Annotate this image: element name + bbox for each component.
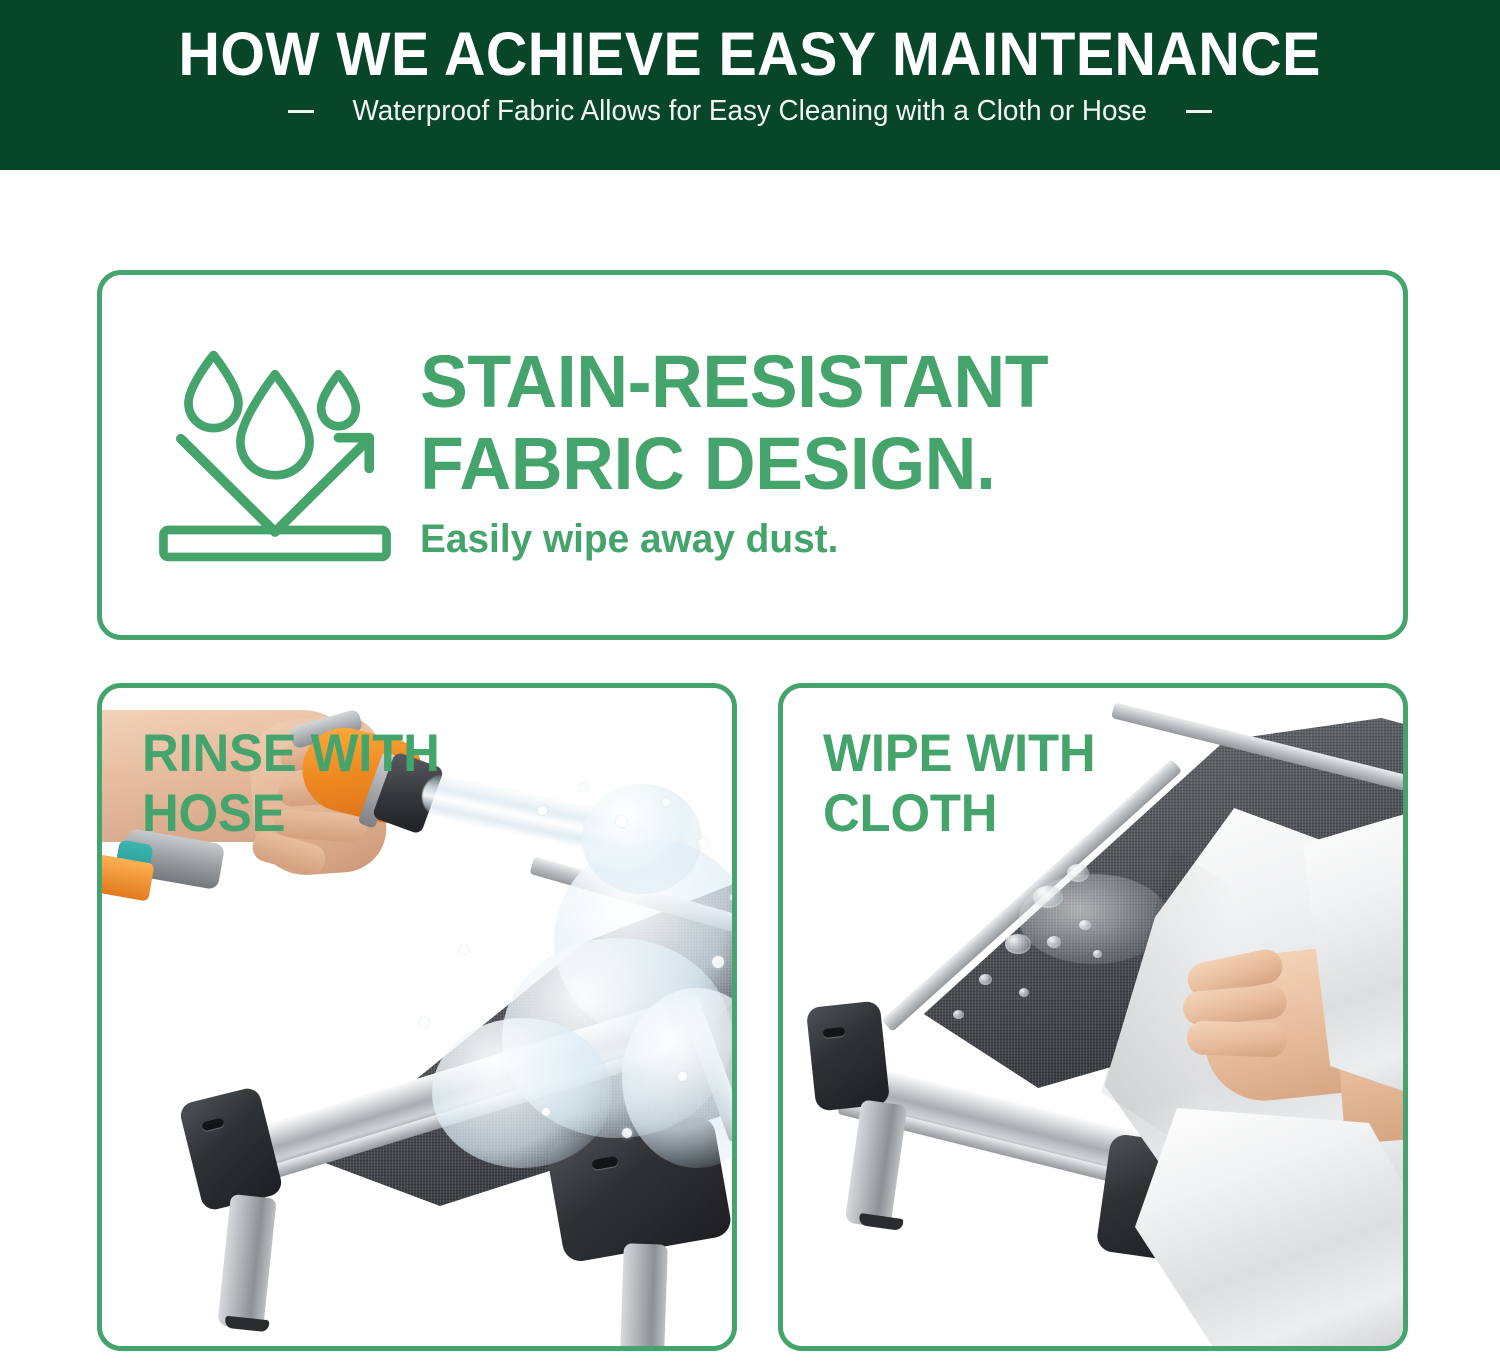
rinse-with-hose-card: RINSE WITH HOSE [97,683,737,1351]
cot-leg-tip-left [858,1213,903,1231]
water-droplet [420,1018,429,1027]
water-repellent-fabric-icon [102,330,402,580]
water-droplet [662,798,670,806]
water-bead [1067,864,1089,882]
water-droplet [622,1128,632,1138]
water-droplet [538,806,547,815]
rinse-card-heading: RINSE WITH HOSE [142,724,440,844]
wipe-with-cloth-card: WIPE WITH CLOTH [778,683,1408,1351]
cot-leg-right [620,1243,668,1351]
water-bead [1005,934,1031,954]
water-droplet [460,946,468,954]
stain-heading-line2: FABRIC DESIGN. [420,423,1374,505]
water-droplet [616,816,627,827]
water-bead [1079,920,1091,930]
water-bead [1033,886,1063,908]
water-bead [1093,950,1102,958]
water-bead [1047,936,1061,948]
dash-left-icon [288,110,314,113]
header-subtitle: Waterproof Fabric Allows for Easy Cleani… [353,94,1147,128]
microfiber-cloth-drape [1135,1108,1408,1351]
page-title: HOW WE ACHIEVE EASY MAINTENANCE [179,22,1321,86]
cot-corner-cap-left [806,1000,890,1111]
header-subtitle-row: Waterproof Fabric Allows for Easy Cleani… [288,94,1211,128]
stain-subtext: Easily wipe away dust. [420,515,1374,563]
cot-leg-left [217,1194,277,1330]
stain-resistant-text-block: STAIN-RESISTANT FABRIC DESIGN. Easily wi… [402,341,1403,569]
header-banner: HOW WE ACHIEVE EASY MAINTENANCE Waterpro… [0,0,1500,170]
water-droplet [678,1072,687,1081]
water-bead [979,974,992,985]
water-droplet [730,894,737,901]
water-droplet [580,784,587,791]
water-droplet [712,956,724,968]
water-bead [1019,988,1029,997]
water-bead [953,1010,964,1019]
cot-corner-cap-left [178,1086,284,1213]
water-splash [582,784,702,894]
dash-right-icon [1186,110,1212,113]
water-splash [432,1018,612,1168]
cot-leg-left [845,1099,908,1228]
stain-resistant-card: STAIN-RESISTANT FABRIC DESIGN. Easily wi… [97,270,1408,640]
water-droplet [542,1108,550,1116]
wipe-card-heading: WIPE WITH CLOTH [823,724,1095,844]
water-droplet [698,838,708,848]
stain-heading-line1: STAIN-RESISTANT [420,341,1374,423]
finger [1186,1020,1287,1057]
